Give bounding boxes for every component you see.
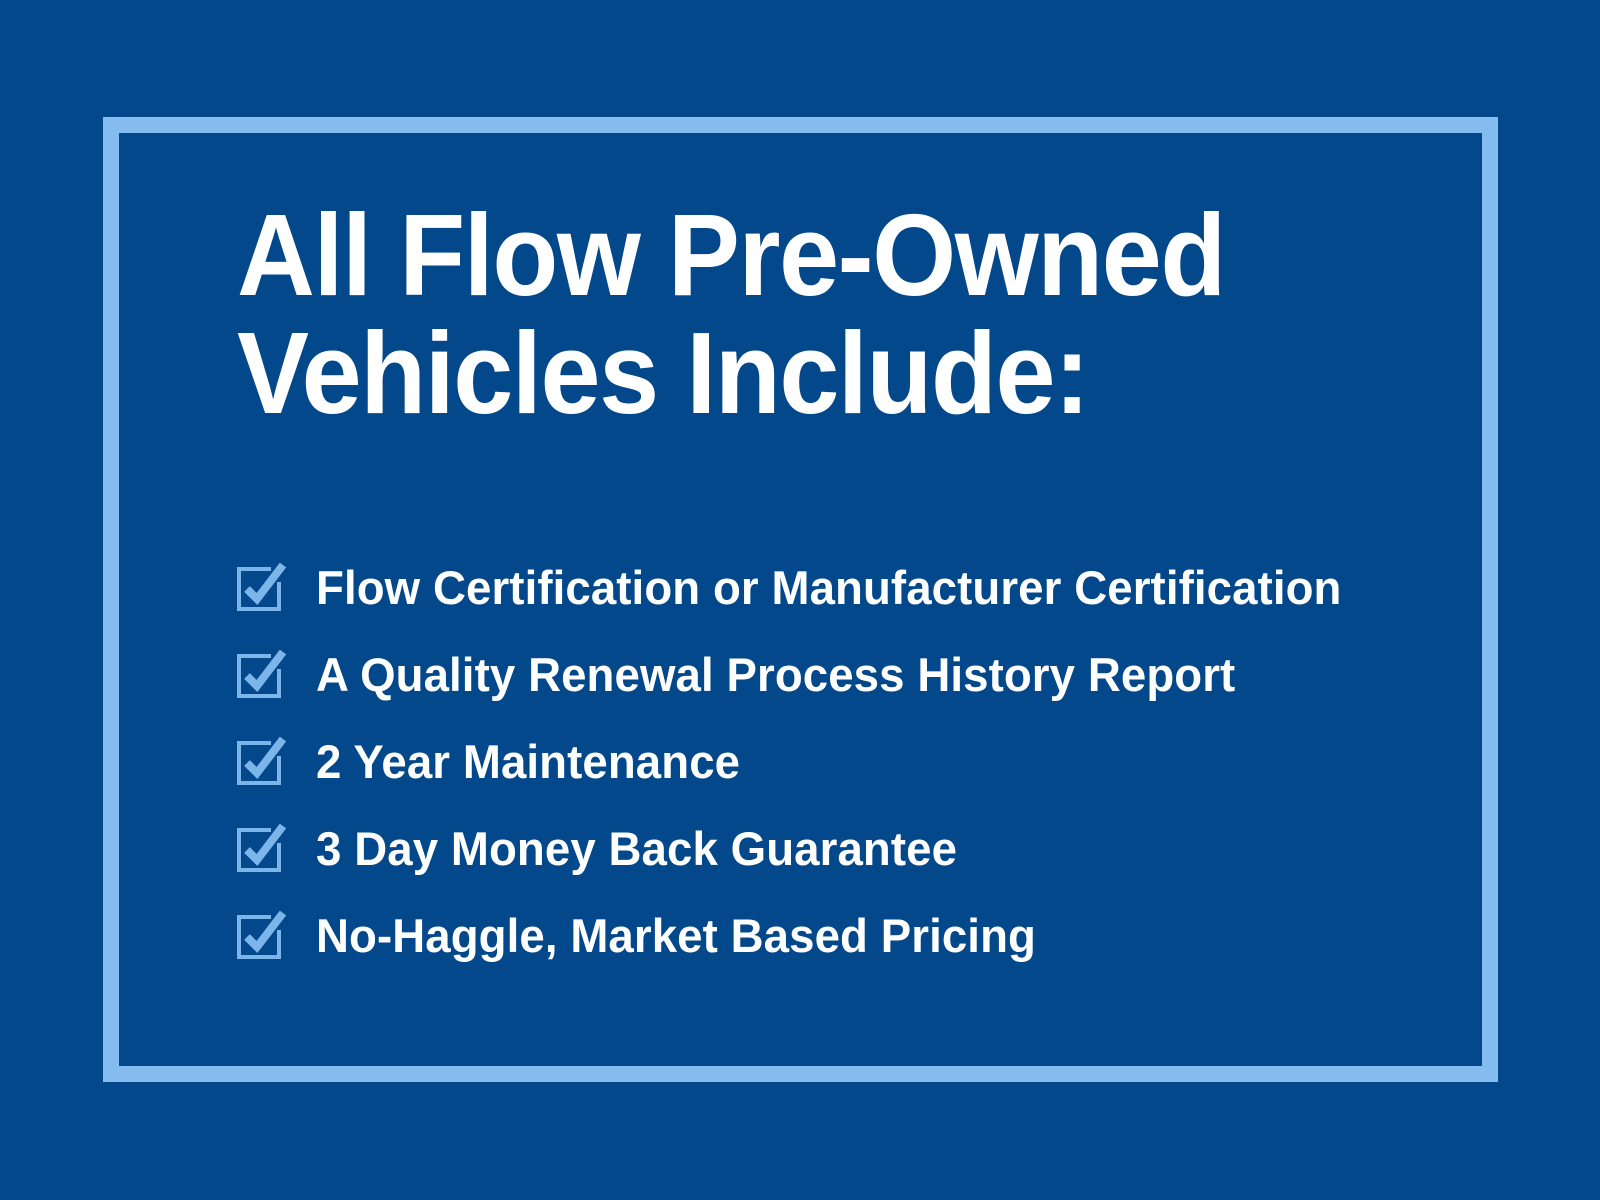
- list-item: 3 Day Money Back Guarantee: [236, 805, 1476, 892]
- checkbox-checked-icon: [236, 738, 284, 786]
- checkbox-checked-icon: [236, 651, 284, 699]
- page-title: All Flow Pre-OwnedVehicles Include:: [237, 196, 1353, 432]
- list-item: Flow Certification or Manufacturer Certi…: [236, 544, 1476, 631]
- list-item-label: Flow Certification or Manufacturer Certi…: [316, 563, 1341, 613]
- list-item-label: 2 Year Maintenance: [316, 737, 740, 787]
- list-item: No-Haggle, Market Based Pricing: [236, 892, 1476, 979]
- checkbox-checked-icon: [236, 825, 284, 873]
- poster-content: All Flow Pre-OwnedVehicles Include:: [237, 196, 1437, 432]
- list-item: A Quality Renewal Process History Report: [236, 631, 1476, 718]
- list-item-label: 3 Day Money Back Guarantee: [316, 824, 957, 874]
- benefits-checklist: Flow Certification or Manufacturer Certi…: [236, 544, 1476, 979]
- headline-line-1: All Flow Pre-Owned: [237, 196, 1353, 314]
- headline-line-2: Vehicles Include:: [237, 314, 1353, 432]
- list-item: 2 Year Maintenance: [236, 718, 1476, 805]
- promo-poster: All Flow Pre-OwnedVehicles Include: Flow…: [0, 0, 1600, 1200]
- list-item-label: A Quality Renewal Process History Report: [316, 650, 1235, 700]
- checkbox-checked-icon: [236, 912, 284, 960]
- list-item-label: No-Haggle, Market Based Pricing: [316, 911, 1036, 961]
- checkbox-checked-icon: [236, 564, 284, 612]
